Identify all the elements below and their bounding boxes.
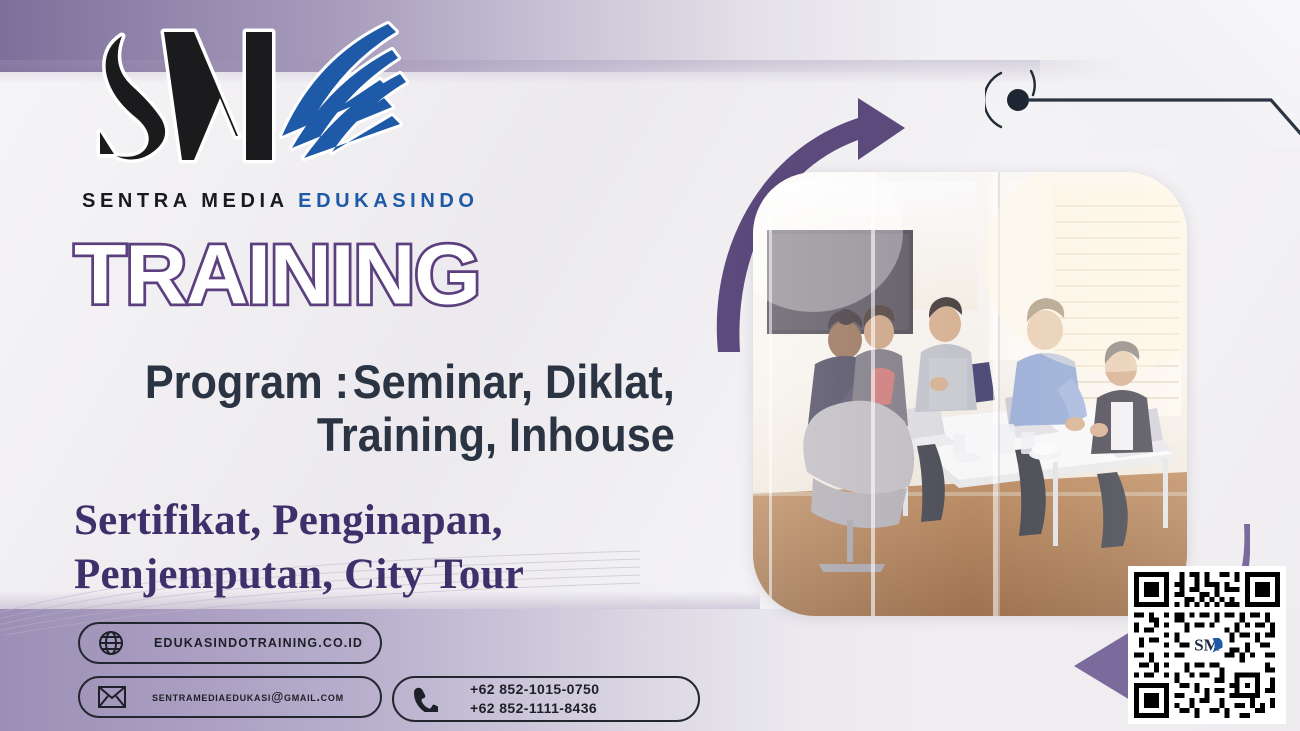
logo-wordmark-part1: SENTRA MEDIA [82, 190, 288, 212]
contact-email-value: Sentramediaedukasi@gmail.com [152, 690, 344, 704]
logo-wordmark: SENTRA MEDIA EDUKASINDO [82, 190, 479, 213]
globe-icon [98, 630, 124, 656]
contact-phone-value: +62 852-1015-0750 +62 852-1111-8436 [470, 680, 599, 718]
services-block: Sertifikat, Penginapan, Penjemputan, Cit… [74, 494, 694, 602]
contact-website[interactable]: EDUKASINDOTRAINING.CO.ID [78, 622, 382, 664]
program-value-line1: Seminar, Diklat, [353, 355, 675, 408]
company-logo: SENTRA MEDIA EDUKASINDO [78, 14, 478, 204]
meeting-photo [753, 172, 1187, 616]
decorative-node-line [985, 55, 1300, 150]
page-title: TRAINING [74, 232, 480, 316]
envelope-icon [98, 686, 126, 708]
sm-book-logo-icon [78, 14, 478, 174]
contact-phone-line1: +62 852-1015-0750 [470, 681, 599, 697]
phone-icon [412, 686, 438, 712]
promotional-banner: SM [0, 0, 1300, 731]
program-value-line2: Training, Inhouse [86, 409, 675, 462]
logo-wordmark-part2: EDUKASINDO [298, 190, 478, 212]
contact-email[interactable]: Sentramediaedukasi@gmail.com [78, 676, 382, 718]
contact-phone-line2: +62 852-1111-8436 [470, 700, 597, 716]
services-line-1: Sertifikat, Penginapan, [74, 494, 694, 548]
contact-phone[interactable]: +62 852-1015-0750 +62 852-1111-8436 [392, 676, 700, 722]
contact-website-value: EDUKASINDOTRAINING.CO.ID [154, 636, 363, 650]
program-block: Program :Seminar, Diklat, Training, Inho… [86, 356, 675, 461]
program-label: Program : [145, 355, 349, 408]
services-line-2: Penjemputan, City Tour [74, 548, 694, 602]
program-line-1: Program :Seminar, Diklat, [86, 356, 675, 409]
qr-code[interactable]: SM [1128, 566, 1286, 724]
